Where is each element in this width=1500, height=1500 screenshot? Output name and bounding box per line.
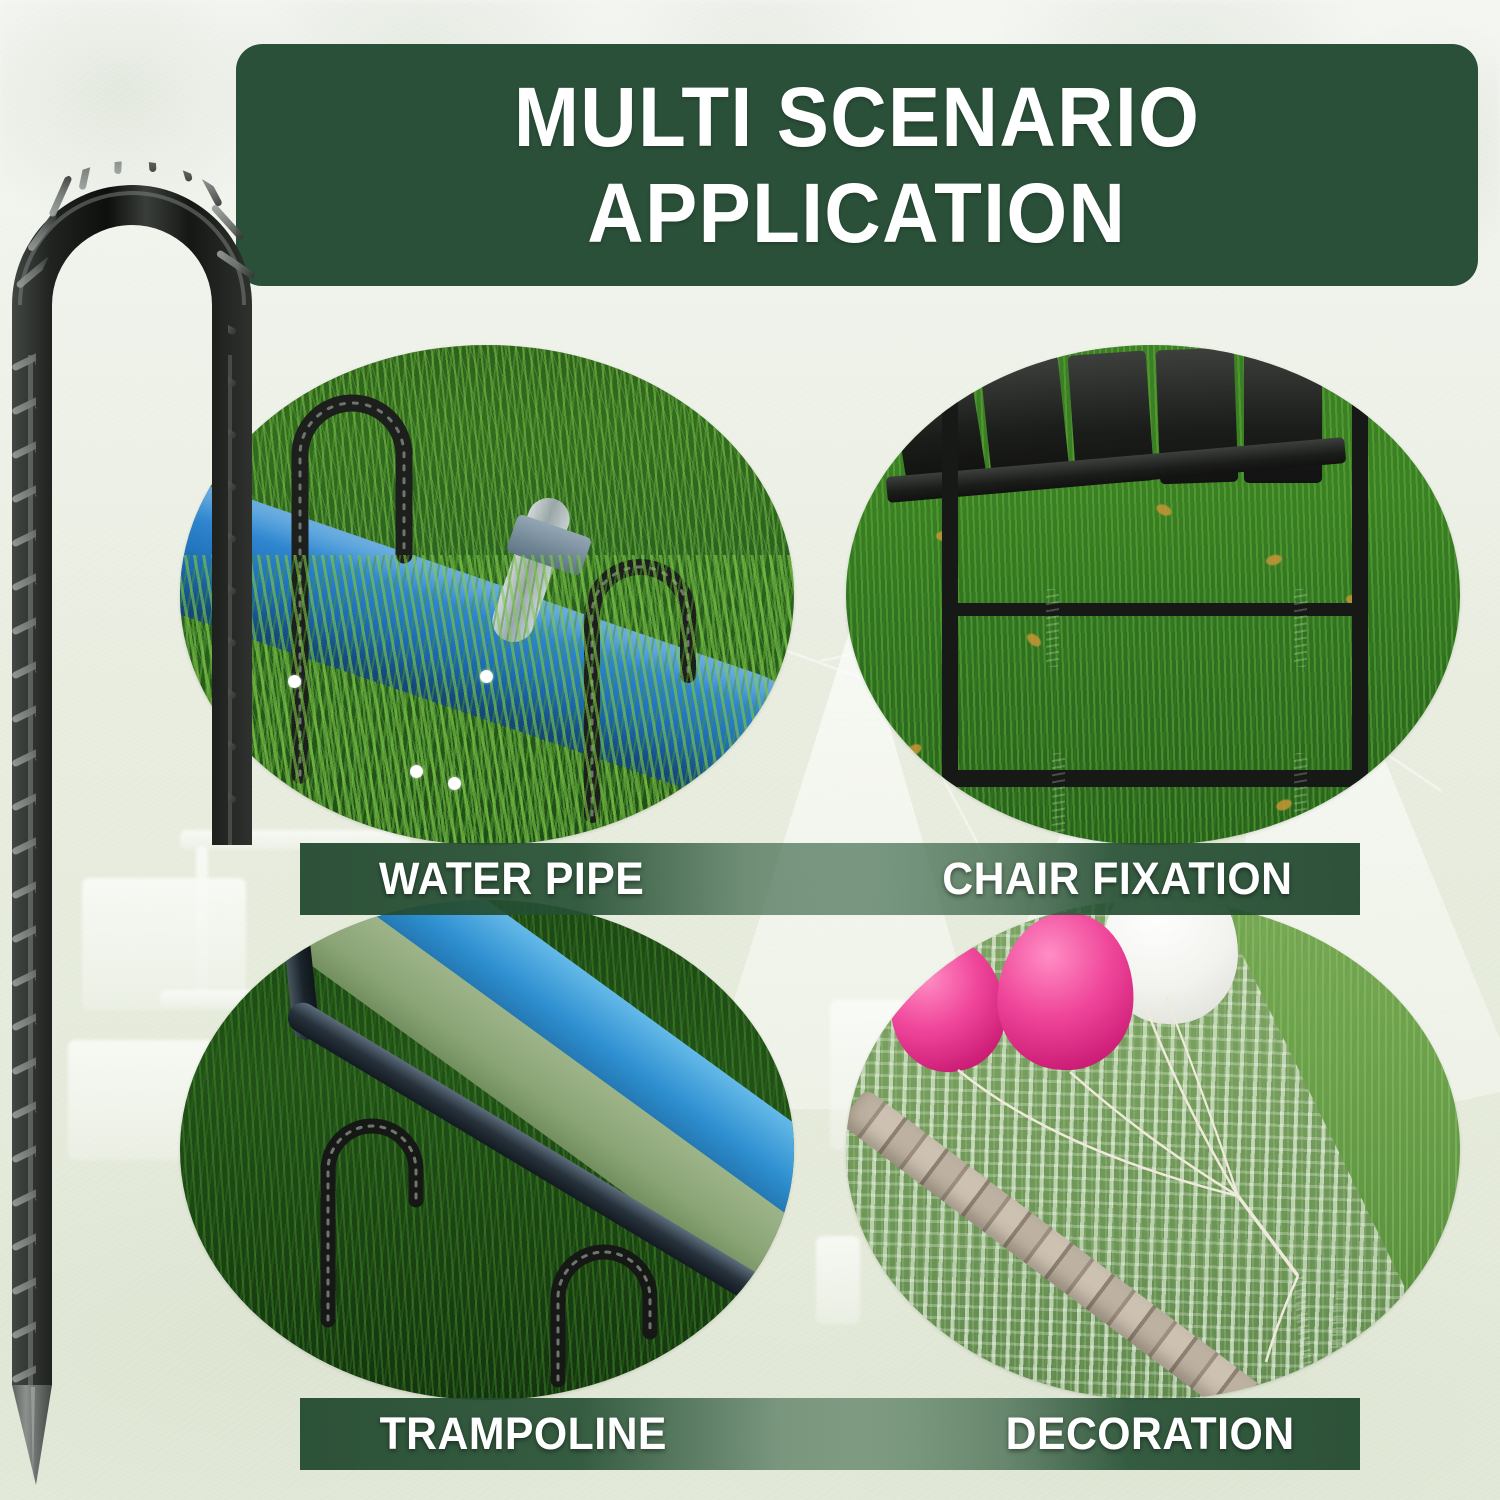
photo-bench-slat — [890, 363, 986, 484]
photo-ground-stake — [1294, 589, 1307, 667]
scenario-photo-water-pipe — [180, 345, 794, 845]
photo-ground-stake — [1294, 753, 1307, 835]
scenario-label-decoration: DECORATION — [1005, 1408, 1294, 1460]
scenario-photo-decoration — [846, 900, 1460, 1400]
scenario-photo-trampoline — [180, 900, 794, 1400]
photo-daisy — [288, 675, 301, 688]
banner-title-line-1: MULTI SCENARIO — [514, 76, 1200, 158]
scenario-label-chair-fixation: CHAIR FIXATION — [943, 853, 1293, 905]
scenario-photo-chair-fixation — [846, 345, 1460, 845]
scenario-label-trampoline: TRAMPOLINE — [380, 1408, 667, 1460]
banner-title-line-2: APPLICATION — [587, 172, 1126, 254]
product-marketing-image: MULTI SCENARIO APPLICATION — [0, 0, 1500, 1500]
scenario-label-water-pipe: WATER PIPE — [379, 853, 644, 905]
scenario-label-bar-decoration: DECORATION — [780, 1398, 1360, 1470]
photo-foreground-grass — [180, 555, 794, 845]
photo-bench-leg-right — [1352, 355, 1368, 785]
photo-ground-stake — [1052, 753, 1065, 835]
scenario-label-bar-chair-fixation: CHAIR FIXATION — [740, 843, 1360, 915]
photo-stakes-overlay — [180, 900, 794, 1400]
photo-daisy — [448, 777, 461, 790]
photo-balloon-strings — [846, 900, 1460, 1400]
header-banner: MULTI SCENARIO APPLICATION — [236, 44, 1478, 286]
photo-daisy — [410, 765, 423, 778]
photo-ground-stake — [1046, 589, 1059, 667]
photo-bench-leg-left — [942, 365, 958, 785]
photo-daisy — [480, 670, 493, 683]
